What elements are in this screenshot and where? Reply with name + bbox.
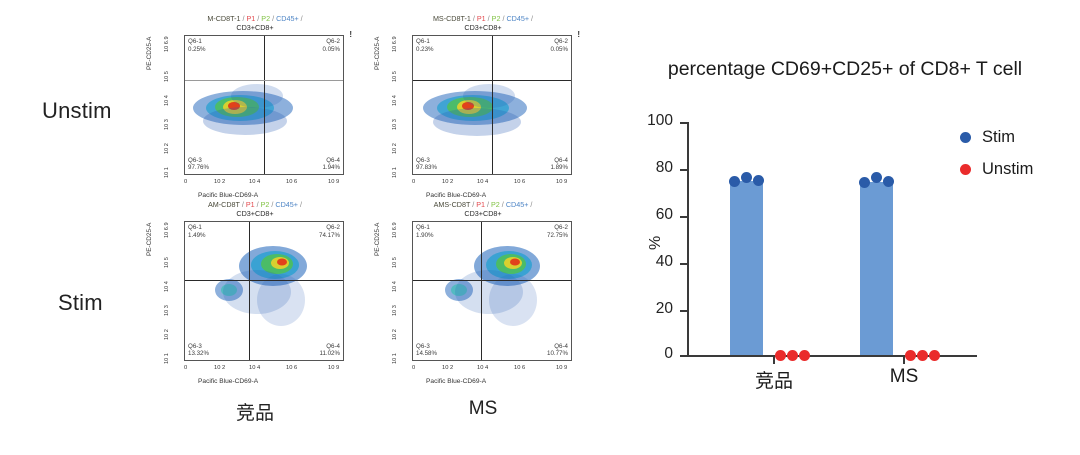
flow-gate-p2: P2	[491, 200, 500, 209]
bar-stim-ms	[860, 182, 893, 355]
chart-title: percentage CD69+CD25+ of CD8+ T cell	[635, 58, 1055, 81]
flow-y-tick: 10 5	[392, 71, 398, 82]
data-point-stim	[741, 172, 752, 183]
flow-gate-p1: P1	[477, 14, 486, 23]
quadrant-label: Q6-41.94%	[322, 157, 340, 172]
quadrant-label: Q6-10.25%	[188, 38, 206, 53]
flow-panel-subtitle: CD3+CD8+	[140, 23, 370, 32]
chart-y-tickmark	[680, 263, 687, 265]
quadrant-label: Q6-411.02%	[319, 343, 340, 358]
data-point-unstim	[917, 350, 928, 361]
column-caption-competitor: 竞品	[140, 398, 370, 425]
flow-x-tick: 10 6	[514, 179, 525, 185]
flow-y-tick: 10 5	[164, 257, 170, 268]
flow-x-tick: 10 6	[286, 365, 297, 371]
row-label-stim: Stim	[58, 290, 103, 316]
chart-y-tickmark	[680, 169, 687, 171]
flow-x-tick: 10 2	[214, 365, 225, 371]
flow-y-tick: 10 6.9	[164, 36, 170, 52]
flow-y-axis-label: PE-CD25-A	[146, 37, 153, 70]
chart-y-tickmark	[680, 355, 687, 357]
legend-label-unstim: Unstim	[982, 160, 1033, 179]
flow-y-tick: 10 3	[392, 305, 398, 316]
legend-marker-stim-icon	[960, 132, 971, 143]
legend-item-stim: Stim	[960, 128, 1033, 147]
data-point-unstim	[775, 350, 786, 361]
quadrant-label: Q6-313.32%	[188, 343, 209, 358]
data-point-unstim	[905, 350, 916, 361]
warning-icon: !	[577, 30, 580, 39]
flow-y-axis-label: PE-CD25-A	[374, 37, 381, 70]
chart-y-tick-label: 0	[633, 345, 673, 363]
flow-y-tick: 10 2	[164, 329, 170, 340]
data-point-stim	[883, 176, 894, 187]
flow-scatter-area: Q6-11.49% Q6-274.17% Q6-313.32% Q6-411.0…	[184, 221, 344, 361]
quadrant-label: Q6-274.17%	[319, 224, 340, 239]
quadrant-label: Q6-10.23%	[416, 38, 434, 53]
flow-y-tick: 10 2	[392, 329, 398, 340]
quadrant-label: Q6-20.05%	[322, 38, 340, 53]
flow-gate-cd45: CD45+	[506, 200, 529, 209]
flow-x-tick: 10 6	[514, 365, 525, 371]
bar-stim-competitor	[730, 181, 763, 355]
flow-y-tick: 10 5	[392, 257, 398, 268]
flow-gate-p1: P1	[246, 14, 255, 23]
flow-scatter-area: Q6-10.23% Q6-20.05% Q6-397.83% Q6-41.89%	[412, 35, 572, 175]
flow-x-tick: 10 4	[477, 365, 488, 371]
chart-y-tickmark	[680, 122, 687, 124]
chart-y-tickmark	[680, 216, 687, 218]
flow-gate-p2: P2	[261, 14, 270, 23]
chart-y-axis-label: %	[647, 236, 665, 250]
flow-y-axis-label: PE-CD25-A	[374, 223, 381, 256]
flow-cytometry-panel: MS-CD8T-1 / P1 / P2 / CD45+ / CD3+CD8+ !…	[368, 14, 598, 214]
flow-x-tick: 10 4	[249, 365, 260, 371]
flow-y-tick: 10 1	[164, 353, 170, 364]
flow-y-tick: 10 5	[164, 71, 170, 82]
flow-y-axis-label: PE-CD25-A	[146, 223, 153, 256]
chart-y-tickmark	[680, 310, 687, 312]
flow-scatter-area: Q6-10.25% Q6-20.05% Q6-397.76% Q6-41.94%	[184, 35, 344, 175]
column-caption-ms: MS	[368, 398, 598, 420]
chart-x-tickmark	[773, 357, 775, 364]
data-point-stim	[753, 175, 764, 186]
flow-gate-cd45: CD45+	[506, 14, 529, 23]
flow-y-tick: 10 3	[392, 119, 398, 130]
flow-y-tick: 10 4	[392, 281, 398, 292]
chart-x-tickmark	[903, 357, 905, 364]
flow-x-axis-label: Pacific Blue-CD69-A	[368, 192, 656, 199]
chart-y-tick-label: 40	[633, 253, 673, 271]
flow-x-tick: 10 2	[442, 179, 453, 185]
chart-y-tick-label: 60	[633, 206, 673, 224]
legend-item-unstim: Unstim	[960, 160, 1033, 179]
flow-gate-cd45: CD45+	[276, 14, 299, 23]
flow-gate-p1: P1	[246, 200, 255, 209]
flow-gate-cd45: CD45+	[275, 200, 298, 209]
flow-cytometry-panel: M-CD8T-1 / P1 / P2 / CD45+ / CD3+CD8+ ! …	[140, 14, 370, 214]
flow-x-tick: 10 9	[328, 365, 339, 371]
flow-y-tick: 10 1	[392, 353, 398, 364]
flow-x-tick: 10 2	[442, 365, 453, 371]
flow-x-tick: 0	[184, 365, 187, 371]
flow-y-tick: 10 6.9	[392, 36, 398, 52]
quadrant-label: Q6-41.89%	[550, 157, 568, 172]
flow-x-tick: 10 2	[214, 179, 225, 185]
flow-cytometry-panel: AM-CD8T / P1 / P2 / CD45+ / CD3+CD8+ PE-…	[140, 200, 370, 400]
flow-sample-name: M-CD8T-1	[207, 14, 240, 23]
quadrant-label: Q6-11.49%	[188, 224, 206, 239]
flow-scatter-area: Q6-11.90% Q6-272.75% Q6-314.58% Q6-410.7…	[412, 221, 572, 361]
flow-y-tick: 10 3	[164, 305, 170, 316]
quadrant-label: Q6-397.76%	[188, 157, 209, 172]
flow-x-tick: 0	[412, 365, 415, 371]
flow-x-tick: 10 6	[286, 179, 297, 185]
quadrant-label: Q6-272.75%	[547, 224, 568, 239]
flow-x-tick: 0	[184, 179, 187, 185]
data-point-stim	[859, 177, 870, 188]
chart-x-category-label: MS	[844, 366, 964, 388]
data-point-unstim	[799, 350, 810, 361]
flow-x-tick: 10 4	[249, 179, 260, 185]
chart-legend: Stim Unstim	[960, 128, 1033, 192]
data-point-unstim	[929, 350, 940, 361]
flow-x-tick: 10 9	[328, 179, 339, 185]
flow-y-tick: 10 2	[392, 143, 398, 154]
data-point-unstim	[787, 350, 798, 361]
quadrant-label: Q6-410.77%	[547, 343, 568, 358]
chart-x-category-label: 竞品	[714, 366, 834, 393]
flow-y-tick: 10 2	[164, 143, 170, 154]
flow-y-tick: 10 6.9	[392, 222, 398, 238]
flow-y-tick: 10 4	[392, 95, 398, 106]
quadrant-label: Q6-11.90%	[416, 224, 434, 239]
flow-x-tick: 10 9	[556, 365, 567, 371]
flow-gate-p1: P1	[476, 200, 485, 209]
flow-panel-subtitle: CD3+CD8+	[140, 209, 370, 218]
flow-panel-subtitle: CD3+CD8+	[368, 23, 598, 32]
flow-x-tick: 10 9	[556, 179, 567, 185]
quadrant-label: Q6-397.83%	[416, 157, 437, 172]
data-point-stim	[729, 176, 740, 187]
legend-marker-unstim-icon	[960, 164, 971, 175]
flow-x-axis-label: Pacific Blue-CD69-A	[368, 378, 656, 385]
chart-y-tick-label: 20	[633, 300, 673, 318]
data-point-stim	[871, 172, 882, 183]
flow-sample-name: MS-CD8T-1	[433, 14, 471, 23]
bar-chart: percentage CD69+CD25+ of CD8+ T cell % 1…	[615, 50, 1075, 410]
legend-label-stim: Stim	[982, 128, 1015, 147]
flow-x-tick: 0	[412, 179, 415, 185]
chart-y-tick-label: 100	[633, 112, 673, 130]
flow-y-tick: 10 3	[164, 119, 170, 130]
quadrant-label: Q6-314.58%	[416, 343, 437, 358]
warning-icon: !	[349, 30, 352, 39]
quadrant-label: Q6-20.05%	[550, 38, 568, 53]
flow-sample-name: AM-CD8T	[208, 200, 240, 209]
flow-panel-subtitle: CD3+CD8+	[368, 209, 598, 218]
flow-y-tick: 10 1	[392, 167, 398, 178]
flow-y-tick: 10 4	[164, 95, 170, 106]
flow-y-tick: 10 4	[164, 281, 170, 292]
chart-y-tick-label: 80	[633, 159, 673, 177]
flow-y-tick: 10 6.9	[164, 222, 170, 238]
flow-sample-name: AMS-CD8T	[434, 200, 471, 209]
flow-cytometry-panel: AMS-CD8T / P1 / P2 / CD45+ / CD3+CD8+ PE…	[368, 200, 598, 400]
row-label-unstim: Unstim	[42, 98, 112, 124]
flow-y-tick: 10 1	[164, 167, 170, 178]
chart-y-axis	[687, 122, 689, 357]
flow-x-tick: 10 4	[477, 179, 488, 185]
